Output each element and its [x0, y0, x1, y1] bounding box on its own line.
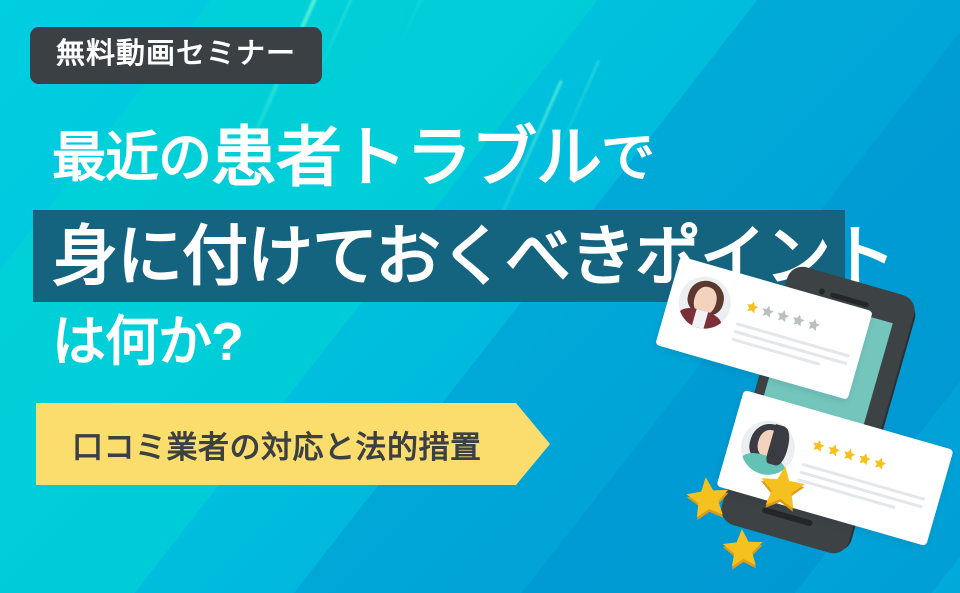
subtitle-ribbon: 口コミ業者の対応と法的措置 [36, 403, 550, 485]
headline-group: 最近の患者トラブルで [0, 118, 960, 197]
star-icon-filled [825, 441, 842, 458]
headline-line-1-suffix: で [601, 128, 654, 188]
ribbon-arrow-tip-icon [516, 403, 550, 485]
review-text-line [736, 322, 850, 357]
avatar [673, 271, 737, 335]
floating-star-icon [680, 471, 737, 526]
star-icon-filled [810, 437, 827, 454]
headline-line-1: 最近の患者トラブルで [0, 118, 960, 197]
star-icon-empty [805, 316, 822, 333]
review-text-line [801, 463, 925, 501]
review-text-lines [730, 322, 850, 378]
headline-line-1-emphasis: 患者トラブル [211, 120, 601, 194]
star-icon-filled [856, 450, 873, 467]
floating-star-icon [751, 458, 814, 519]
seminar-badge: 無料動画セミナー [30, 27, 322, 84]
subtitle-ribbon-label: 口コミ業者の対応と法的措置 [36, 403, 516, 485]
star-icon-empty [790, 312, 807, 329]
star-icon-empty [759, 303, 776, 320]
seminar-banner: 無料動画セミナー 最近の患者トラブルで 身に付けておくべきポイント は何か? 口… [0, 0, 960, 593]
headline-line-1-prefix: 最近の [52, 128, 211, 188]
review-text-lines [796, 463, 926, 521]
star-icon-filled [871, 455, 888, 472]
star-icon-empty [774, 307, 791, 324]
star-icon-filled [841, 446, 858, 463]
star-icon-filled [744, 298, 761, 315]
review-text-line [734, 330, 848, 365]
rating-stars [810, 437, 889, 472]
review-text-line [799, 470, 923, 508]
floating-star-icon [717, 525, 769, 576]
phone-camera-icon [818, 288, 825, 295]
smartphone-review-illustration [660, 258, 960, 593]
